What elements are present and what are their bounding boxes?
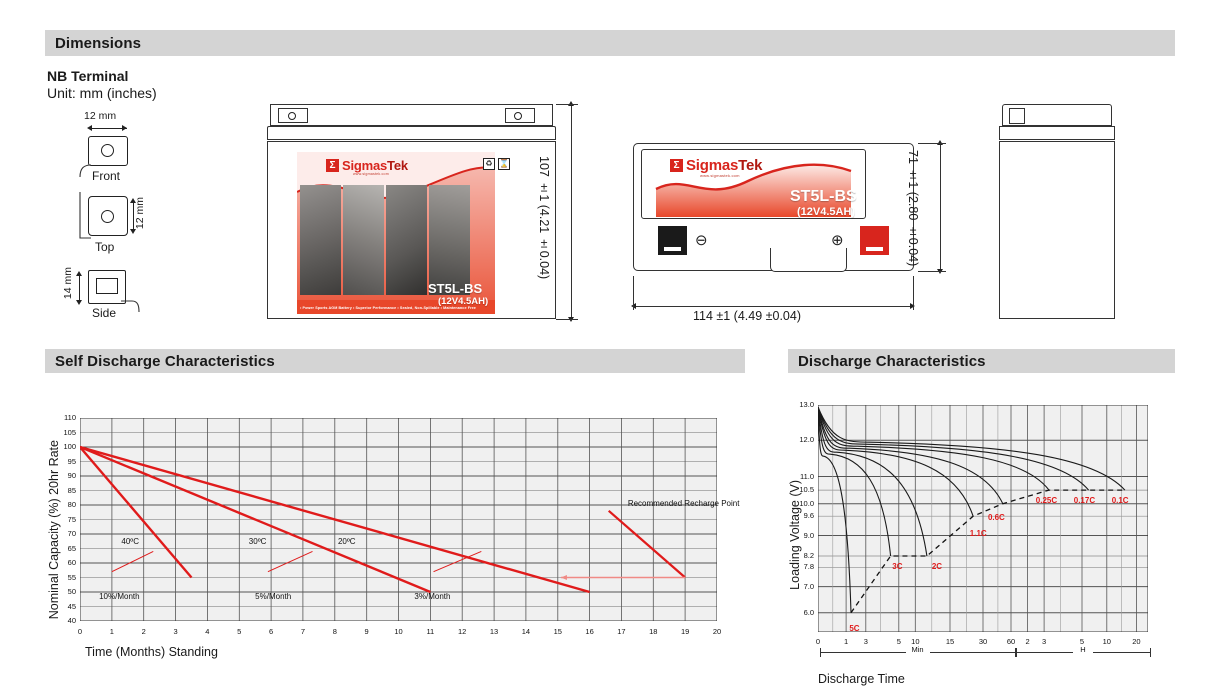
hours-range-start (1016, 648, 1017, 657)
self-discharge-x-tick: 15 (548, 627, 568, 636)
front-height-value: 107 ±1 (4.21 ±0.04) (537, 156, 551, 279)
terminal-front-hole (101, 144, 114, 157)
terminal-top-label: Top (95, 240, 114, 254)
self-discharge-x-tick: 10 (389, 627, 409, 636)
terminal-side-dim-arrow (79, 274, 80, 302)
waste-bin-icon: ⌛ (498, 158, 510, 170)
terminal-side-label: Side (92, 306, 116, 320)
hours-range-label: H (1073, 645, 1093, 654)
photo-dirtbike (429, 185, 470, 295)
self-discharge-annotation: 20ºC (338, 537, 356, 546)
self-discharge-x-axis-title: Time (Months) Standing (85, 645, 218, 659)
model-name-top: ST5L-BS (790, 188, 857, 206)
front-height-dim-line (571, 104, 572, 319)
arrow-head-up-icon (76, 271, 82, 276)
self-discharge-y-tick: 40 (50, 616, 76, 625)
self-discharge-y-tick: 60 (50, 558, 76, 567)
discharge-plot (818, 405, 1148, 632)
nb-terminal-title: NB Terminal (47, 68, 128, 84)
front-height-ext-bottom (556, 319, 578, 320)
self-discharge-x-tick: 16 (580, 627, 600, 636)
battery-front-photo-strip (300, 185, 470, 295)
discharge-y-tick: 12.0 (786, 435, 814, 444)
self-discharge-x-tick: 3 (166, 627, 186, 636)
top-width-ext-left (633, 276, 634, 310)
photo-snowmobile (343, 185, 384, 295)
recycle-icon: ♻ (483, 158, 495, 170)
self-discharge-y-tick: 90 (50, 471, 76, 480)
discharge-curve-label: 0.6C (988, 513, 1005, 522)
self-discharge-x-tick: 8 (325, 627, 345, 636)
self-discharge-y-tick: 80 (50, 500, 76, 509)
discharge-x-tick-minutes: 1 (836, 637, 856, 646)
top-width-value: 114 ±1 (4.49 ±0.04) (693, 309, 801, 323)
self-discharge-x-tick: 2 (134, 627, 154, 636)
minutes-range-label: Min (906, 645, 930, 654)
discharge-y-tick: 9.0 (786, 531, 814, 540)
terminal-front-dim: 12 mm (84, 110, 116, 122)
arrow-head-down-icon (76, 300, 82, 305)
sigma-badge-icon: Σ (670, 159, 683, 172)
brand-logo-front: Σ SigmasTek (326, 158, 408, 173)
self-discharge-x-tick: 6 (261, 627, 281, 636)
hours-range-end (1150, 648, 1151, 657)
self-discharge-annotation: Recommended Recharge Point (628, 499, 740, 508)
unit-note: Unit: mm (inches) (47, 85, 157, 101)
section-header-discharge-label: Discharge Characteristics (798, 353, 986, 370)
discharge-x-axis-title: Discharge Time (818, 672, 905, 686)
brand-logo-top: Σ SigmasTek (670, 157, 762, 174)
discharge-x-tick-hours: 20 (1126, 637, 1146, 646)
top-width-dim-line (633, 306, 914, 307)
self-discharge-annotation: 40ºC (121, 537, 139, 546)
positive-polarity-icon: ⊕ (831, 231, 844, 249)
self-discharge-x-tick: 7 (293, 627, 313, 636)
battery-front-lid (267, 126, 556, 140)
self-discharge-x-tick: 19 (675, 627, 695, 636)
self-discharge-y-tick: 110 (50, 413, 76, 422)
top-width-ext-right (913, 276, 914, 310)
photo-atv (386, 185, 427, 295)
self-discharge-plot (80, 418, 717, 621)
negative-terminal-mark (664, 247, 681, 251)
sigma-badge-icon: Σ (326, 159, 339, 172)
discharge-x-tick-minutes: 15 (940, 637, 960, 646)
top-depth-ext-top (918, 143, 946, 144)
top-depth-ext-bottom (918, 271, 946, 272)
minutes-range-start (820, 648, 821, 657)
self-discharge-x-tick: 1 (102, 627, 122, 636)
arrow-head-left-icon (87, 125, 92, 131)
self-discharge-y-tick: 105 (50, 428, 76, 437)
discharge-y-tick: 13.0 (786, 400, 814, 409)
discharge-curve-label: 2C (932, 562, 942, 571)
discharge-curve-label: 0.1C (1112, 496, 1129, 505)
discharge-x-tick-hours: 3 (1034, 637, 1054, 646)
battery-front-hole-left (288, 112, 296, 120)
brand-url-top: www.sigmastek.com (700, 173, 740, 178)
terminal-side-dim: 14 mm (62, 267, 74, 299)
discharge-y-tick: 10.5 (786, 485, 814, 494)
section-header-discharge: Discharge Characteristics (788, 349, 1175, 373)
self-discharge-y-tick: 95 (50, 457, 76, 466)
self-discharge-x-tick: 5 (229, 627, 249, 636)
discharge-y-tick: 11.0 (786, 472, 814, 481)
brand-name-top: SigmasTek (686, 157, 762, 174)
discharge-curve-label: 0.17C (1074, 496, 1095, 505)
self-discharge-x-tick: 11 (420, 627, 440, 636)
self-discharge-y-tick: 100 (50, 442, 76, 451)
self-discharge-y-tick: 65 (50, 544, 76, 553)
discharge-y-tick: 7.0 (786, 582, 814, 591)
self-discharge-x-tick: 17 (611, 627, 631, 636)
section-header-self-discharge: Self Discharge Characteristics (45, 349, 745, 373)
battery-front-hole-right (514, 112, 522, 120)
photo-motocross (300, 185, 341, 295)
discharge-x-tick-minutes: 30 (973, 637, 993, 646)
discharge-x-tick-minutes: 3 (856, 637, 876, 646)
discharge-curve-label: 1.1C (970, 529, 987, 538)
front-height-ext-top (556, 104, 578, 105)
section-header-dimensions-label: Dimensions (55, 35, 141, 52)
self-discharge-y-tick: 70 (50, 529, 76, 538)
discharge-curve-label: 3C (892, 562, 902, 571)
self-discharge-annotation: 10%/Month (99, 592, 139, 601)
self-discharge-x-tick: 18 (643, 627, 663, 636)
positive-terminal-mark (866, 247, 883, 251)
self-discharge-x-tick: 0 (70, 627, 90, 636)
self-discharge-y-tick: 50 (50, 587, 76, 596)
discharge-y-tick: 8.2 (786, 551, 814, 560)
brand-name-front: SigmasTek (342, 158, 408, 173)
self-discharge-x-tick: 12 (452, 627, 472, 636)
self-discharge-annotation: 3%/Month (414, 592, 450, 601)
battery-side-body (999, 141, 1115, 319)
terminal-front-label: Front (92, 169, 120, 183)
brand-url-front: www.sigmastek.com (353, 172, 389, 176)
terminal-side-leader (120, 298, 142, 314)
self-discharge-annotation: 5%/Month (255, 592, 291, 601)
terminal-top-dim: 12 mm (134, 197, 146, 229)
negative-polarity-icon: ⊖ (695, 231, 708, 249)
battery-side-lid (999, 126, 1115, 140)
discharge-y-tick: 6.0 (786, 608, 814, 617)
section-header-self-discharge-label: Self Discharge Characteristics (55, 353, 275, 370)
self-discharge-y-tick: 45 (50, 602, 76, 611)
self-discharge-chart (80, 418, 717, 621)
model-capacity-top: (12V4.5AH) (797, 206, 855, 218)
self-discharge-x-tick: 20 (707, 627, 727, 636)
top-depth-value: 71 ±1 (2.80 ±0.04) (906, 150, 920, 266)
product-tagline: • Power Sports AGM Battery • Superior Pe… (300, 306, 476, 310)
arrow-head-down-icon (130, 229, 136, 234)
self-discharge-y-tick: 75 (50, 515, 76, 524)
self-discharge-x-tick: 13 (484, 627, 504, 636)
terminal-side-inner-rect (96, 278, 118, 294)
discharge-x-tick-minutes: 0 (808, 637, 828, 646)
discharge-curve-label: 5C (849, 624, 859, 633)
battery-top-vent-strip (770, 248, 847, 272)
discharge-y-tick: 7.8 (786, 562, 814, 571)
section-header-dimensions: Dimensions (45, 30, 1175, 56)
self-discharge-x-tick: 4 (197, 627, 217, 636)
terminal-top-hole (101, 210, 114, 223)
self-discharge-x-tick: 14 (516, 627, 536, 636)
top-depth-dim-line (940, 143, 941, 271)
terminal-top-leader (78, 190, 92, 242)
self-discharge-annotation: 30ºC (249, 537, 267, 546)
self-discharge-x-tick: 9 (357, 627, 377, 636)
arrow-head-right-icon (122, 125, 127, 131)
discharge-chart (818, 405, 1148, 632)
discharge-y-tick: 9.6 (786, 511, 814, 520)
discharge-curve-label: 0.25C (1036, 496, 1057, 505)
self-discharge-y-tick: 55 (50, 573, 76, 582)
model-name-front: ST5L-BS (428, 281, 482, 296)
battery-side-terminal (1009, 108, 1025, 124)
discharge-x-tick-hours: 10 (1097, 637, 1117, 646)
self-discharge-y-tick: 85 (50, 486, 76, 495)
discharge-y-tick: 10.0 (786, 499, 814, 508)
